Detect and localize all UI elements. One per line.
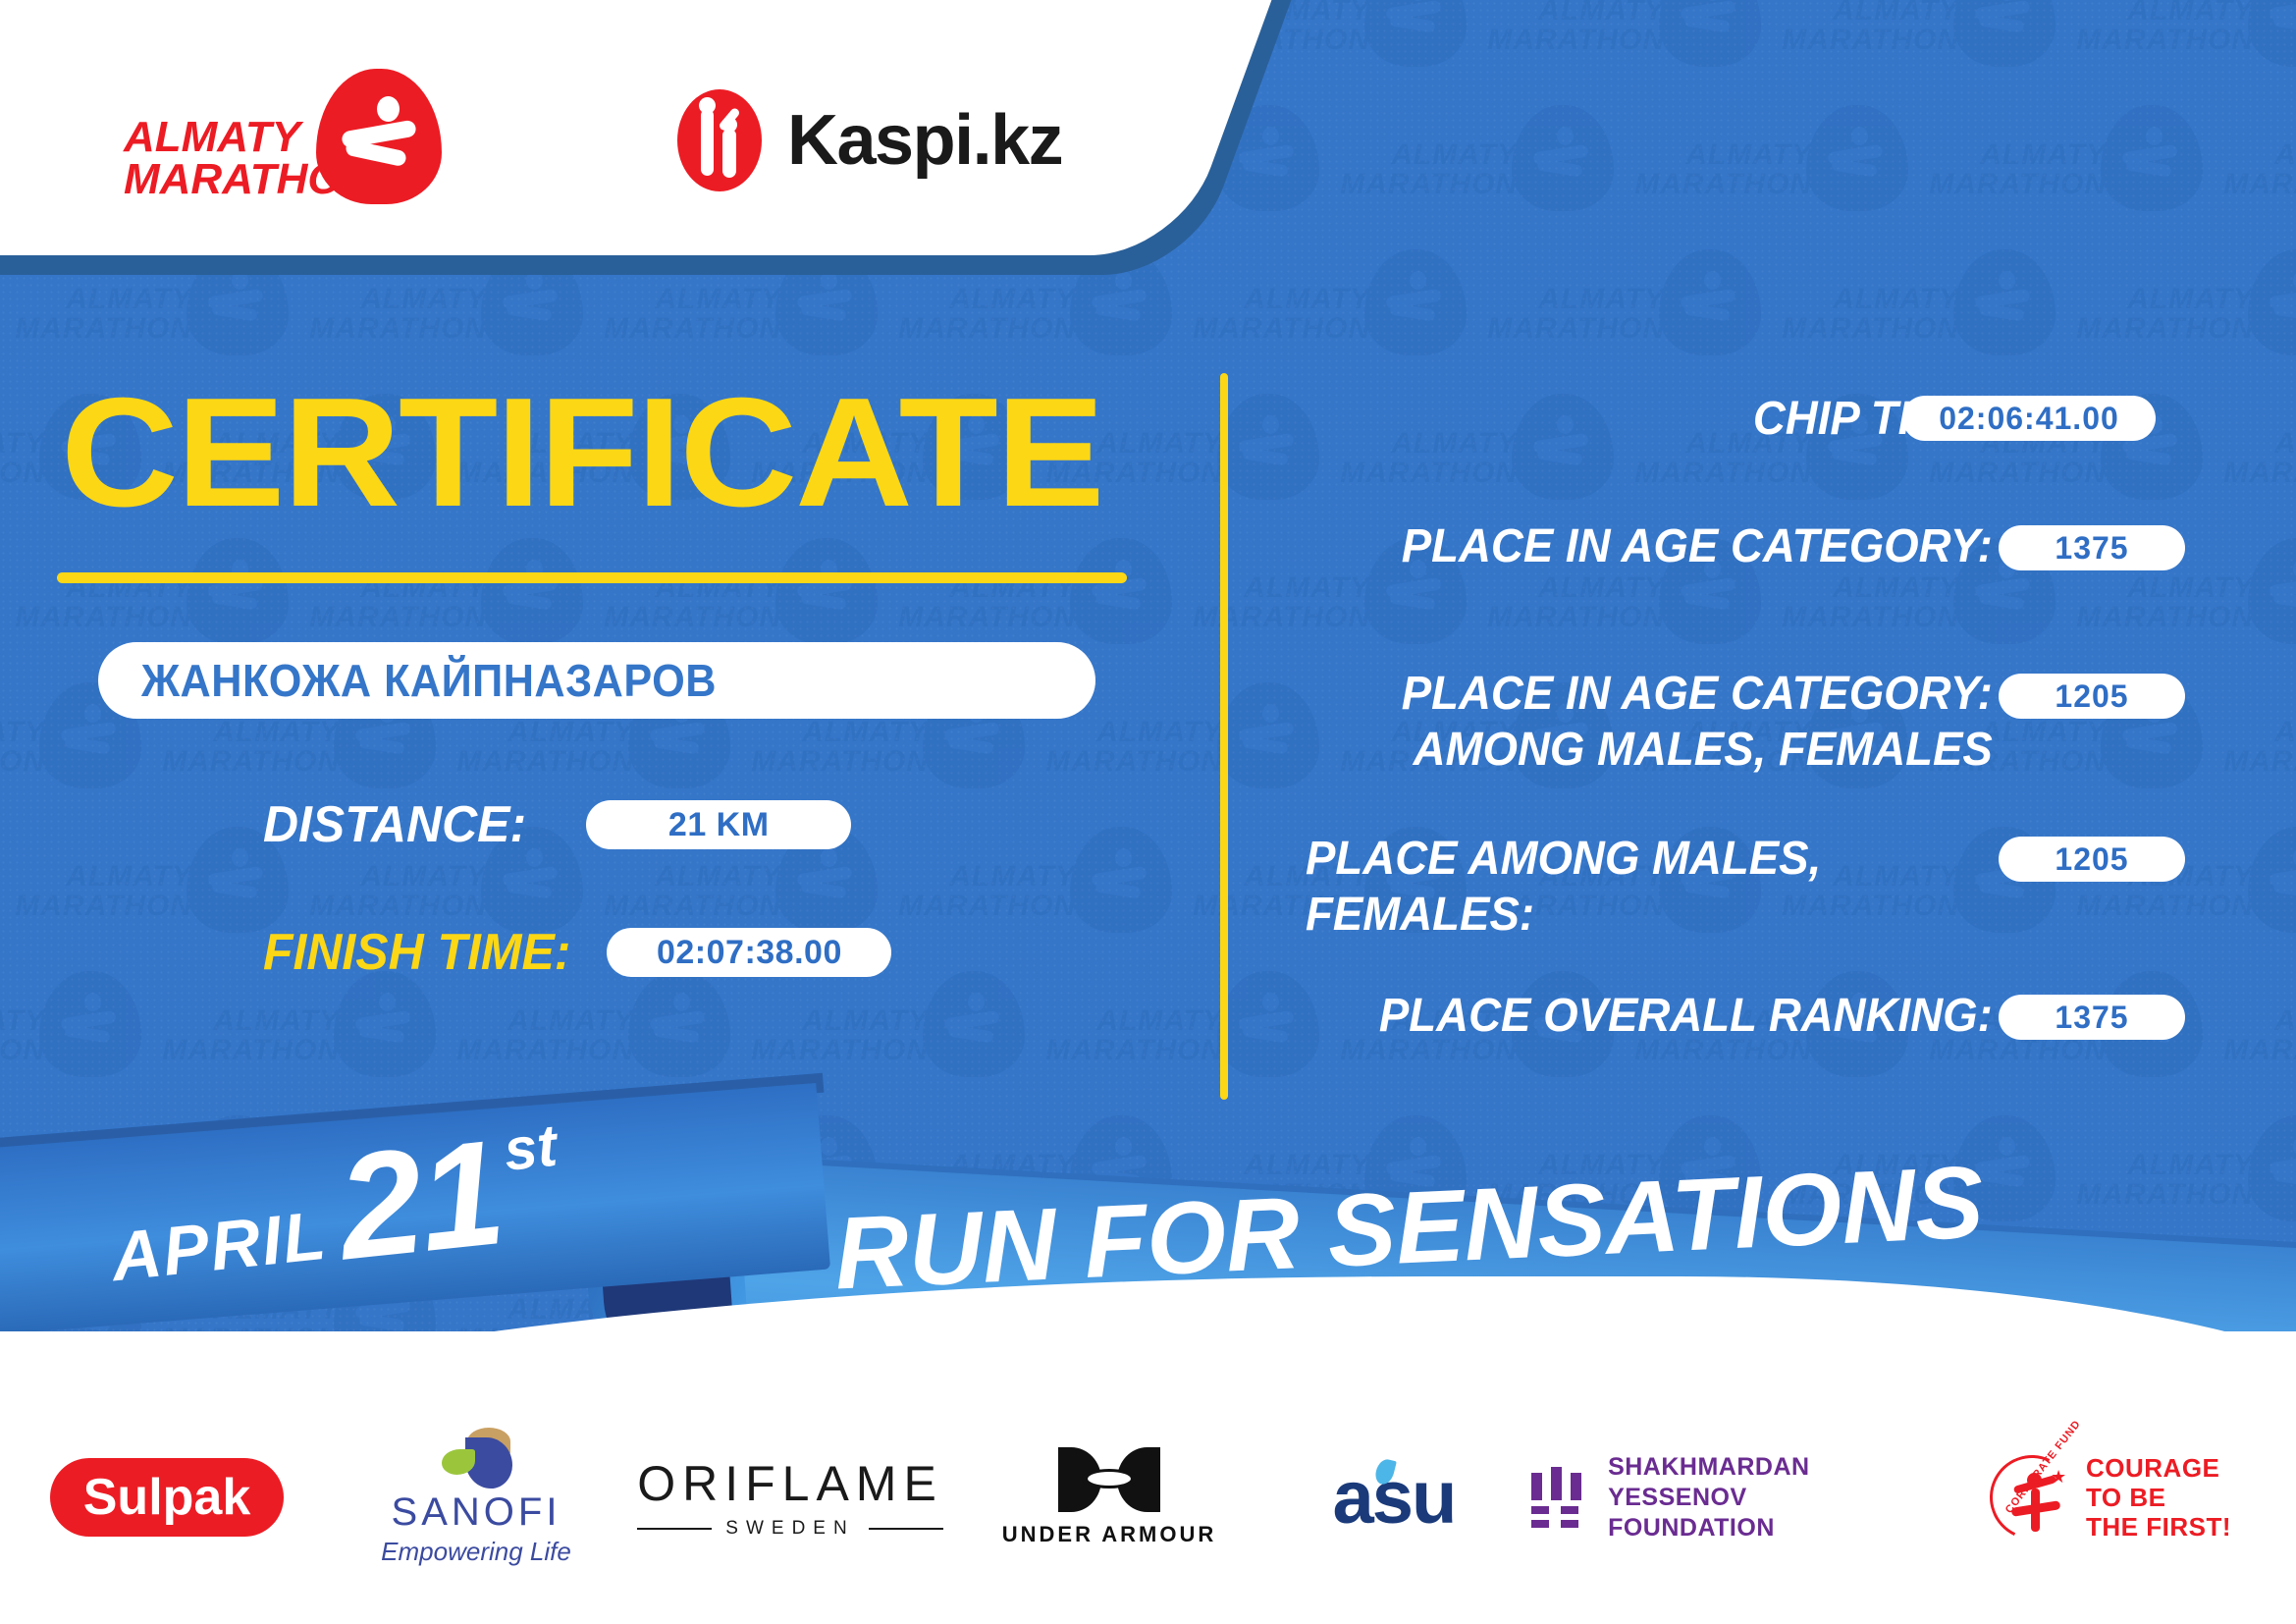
stat-label-line-2: AMONG MALES, FEMALES <box>1402 722 1993 778</box>
kaspi-logo: Kaspi.kz <box>677 86 1062 194</box>
sponsor-sulpak: Sulpak <box>0 1458 334 1537</box>
event-day-suffix: st <box>501 1111 560 1184</box>
sponsor-sanofi: SANOFI Empowering Life <box>334 1428 618 1567</box>
stat-label-line-1: PLACE AMONG MALES, <box>1306 831 1821 887</box>
distance-value-pill: 21 KM <box>586 800 851 849</box>
stat-row-place-among: PLACE AMONG MALES, FEMALES: <box>1217 831 1993 943</box>
stat-value-pill-place-age: 1375 <box>1999 525 2185 570</box>
watermark-tile: ALMATYMARATHON <box>2209 682 2296 830</box>
page-title: CERTIFICATE <box>61 379 1102 526</box>
watermark-tile: ALMATYMARATHON <box>1914 105 2209 252</box>
finish-time-row: FINISH TIME: 02:07:38.00 <box>263 923 891 982</box>
stat-row-place-overall: PLACE OVERALL RANKING: <box>1217 988 1993 1044</box>
watermark-tile: ALMATYMARATHON <box>2061 0 2296 108</box>
stat-value-pill-chip-time: 02:06:41.00 <box>1902 396 2156 441</box>
sponsor-corporate-fund: CORPORATE FUND ★ COURAGE TO BE THE FIRST… <box>1944 1453 2277 1542</box>
watermark-tile: ALMATYMARATHON <box>1620 105 1914 252</box>
participant-name-value: ЖАНКОЖА КАЙПНАЗАРОВ <box>141 654 717 707</box>
sponsor-shakhmardan-yessenov-foundation: SHAKHMARDAN YESSENOV FOUNDATION <box>1531 1452 1944 1543</box>
distance-label: DISTANCE: <box>263 795 526 854</box>
stat-row-place-age-among: PLACE IN AGE CATEGORY: AMONG MALES, FEMA… <box>1217 666 1993 778</box>
watermark-tile: ALMATYMARATHON <box>1472 249 1767 397</box>
watermark-tile: ALMATYMARATHON <box>0 827 294 974</box>
watermark-tile: ALMATYMARATHON <box>2209 394 2296 541</box>
sponsor-oriflame: ORIFLAME SWEDEN <box>618 1455 962 1540</box>
sponsor-asu: asu <box>1256 1455 1531 1541</box>
title-underline <box>57 572 1127 583</box>
finish-time-value: 02:07:38.00 <box>657 934 842 972</box>
watermark-tile: ALMATYMARATHON <box>2209 971 2296 1118</box>
finish-time-label: FINISH TIME: <box>263 923 570 982</box>
sanofi-leaf-icon <box>438 1428 514 1489</box>
kaspi-people-icon <box>677 89 762 191</box>
watermark-tile: ALMATYMARATHON <box>0 971 147 1118</box>
watermark-tile: ALMATYMARATHON <box>2061 249 2296 397</box>
yessenov-wordmark-line-1: SHAKHMARDAN YESSENOV <box>1608 1452 1944 1513</box>
watermark-tile: ALMATYMARATHON <box>1767 0 2061 108</box>
yessenov-bars-icon <box>1531 1467 1584 1528</box>
stat-value-pill-place-age-among: 1205 <box>1999 674 2185 719</box>
stat-value: 1205 <box>2055 678 2128 715</box>
stat-label: PLACE IN AGE CATEGORY: <box>1402 518 1993 574</box>
stat-value: 1375 <box>2055 1000 2128 1036</box>
stat-value-pill-place-among: 1205 <box>1999 837 2185 882</box>
stat-value: 1205 <box>2055 841 2128 878</box>
yessenov-wordmark-line-2: FOUNDATION <box>1608 1513 1944 1543</box>
almaty-marathon-wordmark: ALMATY MARATHON <box>124 116 320 200</box>
finish-time-value-pill: 02:07:38.00 <box>607 928 891 977</box>
corporate-fund-line-2: TO BE <box>2086 1483 2231 1512</box>
distance-row: DISTANCE: 21 KM <box>263 795 851 854</box>
oriflame-wordmark: ORIFLAME <box>637 1455 943 1512</box>
stat-label: PLACE OVERALL RANKING: <box>1379 988 1993 1044</box>
stat-label-line-2: FEMALES: <box>1306 887 1821 943</box>
watermark-tile: ALMATYMARATHON <box>2209 105 2296 252</box>
stat-value-pill-place-overall: 1375 <box>1999 995 2185 1040</box>
watermark-tile: ALMATYMARATHON <box>883 827 1178 974</box>
corporate-fund-person-icon: CORPORATE FUND ★ <box>1990 1455 2074 1540</box>
corporate-fund-line-3: THE FIRST! <box>2086 1512 2231 1542</box>
watermark-tile: ALMATYMARATHON <box>1325 105 1620 252</box>
oriflame-rule-left <box>637 1528 712 1530</box>
corporate-fund-line-1: COURAGE <box>2086 1453 2231 1483</box>
sponsor-under-armour: UNDER ARMOUR <box>962 1447 1256 1547</box>
oriflame-tagline: SWEDEN <box>725 1518 854 1540</box>
stat-label: PLACE AMONG MALES, FEMALES: <box>1306 831 1821 943</box>
almaty-marathon-logo: ALMATY MARATHON <box>124 69 448 206</box>
stat-value: 1375 <box>2055 530 2128 567</box>
sulpak-wordmark: Sulpak <box>50 1458 285 1537</box>
under-armour-icon <box>1058 1447 1160 1512</box>
watermark-tile: ALMATYMARATHON <box>1767 249 2061 397</box>
distance-value: 21 KM <box>668 806 770 844</box>
sanofi-tagline: Empowering Life <box>381 1537 571 1567</box>
stat-value: 02:06:41.00 <box>1939 401 2119 437</box>
sponsor-bar: Sulpak SANOFI Empowering Life ORIFLAME S… <box>0 1404 2296 1591</box>
event-day: 21 <box>333 1128 507 1272</box>
certificate-page: ALMATYMARATHONALMATYMARATHONALMATYMARATH… <box>0 0 2296 1624</box>
stat-row-chip-time: CHIP TIME: <box>1306 391 1993 447</box>
logo-line-1: ALMATY <box>124 116 320 158</box>
stat-label: PLACE IN AGE CATEGORY: AMONG MALES, FEMA… <box>1402 666 1993 778</box>
stat-label-line-1: PLACE IN AGE CATEGORY: <box>1402 666 1993 722</box>
kaspi-wordmark: Kaspi.kz <box>787 100 1062 181</box>
asu-wordmark: asu <box>1333 1455 1456 1541</box>
sanofi-wordmark: SANOFI <box>392 1490 561 1535</box>
oriflame-rule-right <box>869 1528 943 1530</box>
under-armour-wordmark: UNDER ARMOUR <box>1002 1522 1217 1547</box>
participant-name-field: ЖАНКОЖА КАЙПНАЗАРОВ <box>98 642 1095 719</box>
watermark-tile: ALMATYMARATHON <box>1472 0 1767 108</box>
stat-row-place-age: PLACE IN AGE CATEGORY: <box>1217 518 1993 574</box>
logo-line-2: MARATHON <box>124 158 320 200</box>
watermark-tile: ALMATYMARATHON <box>147 971 442 1118</box>
